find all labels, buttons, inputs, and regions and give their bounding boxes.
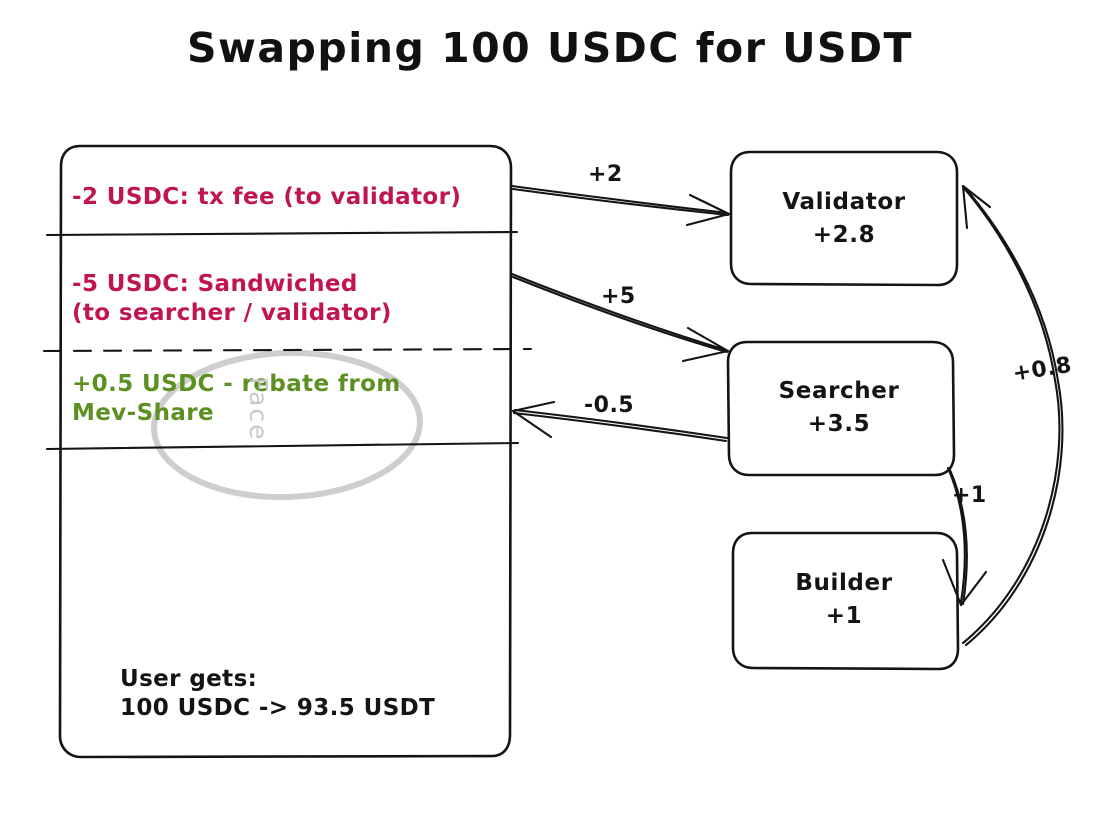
page-title: Swapping 100 USDC for USDT [0, 22, 1100, 74]
node-validator-amount: +2.8 [733, 219, 955, 252]
panel-divider-1 [47, 232, 517, 235]
edge-label-searcher-to-user: -0.5 [584, 393, 634, 418]
watermark-label: Face [244, 377, 273, 442]
node-validator: Validator +2.8 [733, 186, 955, 253]
panel-divider-2-dashed [44, 349, 531, 351]
panel-row-tx-fee: -2 USDC: tx fee (to validator) [72, 183, 461, 212]
panel-summary-user-gets: User gets: 100 USDC -> 93.5 USDT [120, 665, 435, 724]
edge-label-user-to-validator: +2 [588, 162, 623, 187]
panel-row-sandwiched: -5 USDC: Sandwiched (to searcher / valid… [72, 270, 392, 329]
node-builder-name: Builder [733, 567, 955, 600]
edge-builder-to-validator [963, 186, 1062, 645]
edge-label-user-to-searcher: +5 [601, 284, 636, 309]
edge-user-to-validator [512, 186, 729, 225]
node-builder-amount: +1 [733, 600, 955, 633]
node-searcher: Searcher +3.5 [728, 375, 950, 442]
node-validator-name: Validator [733, 186, 955, 219]
edge-label-searcher-to-builder: +1 [952, 483, 987, 508]
node-searcher-amount: +3.5 [728, 408, 950, 441]
diagram-canvas: .stroke { fill:none; stroke:#141414; str… [0, 0, 1100, 813]
node-builder: Builder +1 [733, 567, 955, 634]
node-searcher-name: Searcher [728, 375, 950, 408]
panel-divider-3 [47, 443, 518, 449]
panel-row-rebate: +0.5 USDC - rebate from Mev-Share [72, 370, 401, 429]
